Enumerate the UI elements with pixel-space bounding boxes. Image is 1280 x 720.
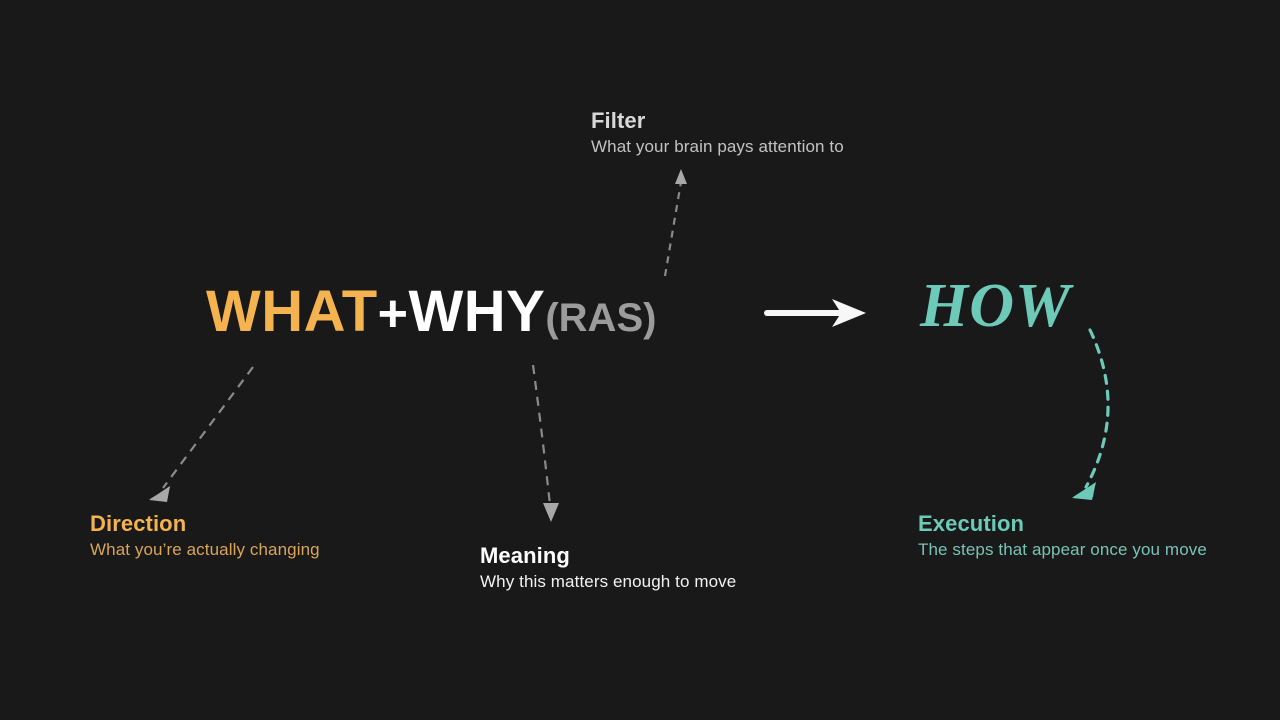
diagram-canvas: WHAT+WHY(RAS) HOW Filter What your brain…	[0, 0, 1280, 720]
note-direction: Direction What you’re actually changing	[90, 511, 320, 563]
note-execution-title: Execution	[918, 511, 1208, 536]
equation-ras: (RAS)	[545, 296, 656, 340]
note-filter: Filter What your brain pays attention to	[591, 108, 844, 160]
what-why-to-how-arrow	[767, 299, 866, 327]
note-meaning-title: Meaning	[480, 543, 736, 568]
note-execution-subtitle: The steps that appear once you move	[918, 536, 1208, 563]
note-meaning-subtitle: Why this matters enough to move	[480, 568, 736, 595]
note-direction-title: Direction	[90, 511, 320, 536]
note-filter-subtitle: What your brain pays attention to	[591, 133, 844, 160]
note-filter-title: Filter	[591, 108, 844, 133]
how-to-execution-arrow	[1072, 330, 1108, 500]
equation-plus: +	[378, 285, 409, 343]
note-direction-subtitle: What you’re actually changing	[90, 536, 320, 563]
central-equation: WHAT+WHY(RAS)	[206, 283, 656, 341]
why-to-meaning-arrow	[533, 365, 559, 522]
note-meaning: Meaning Why this matters enough to move	[480, 543, 736, 595]
why-to-filter-arrow	[665, 169, 687, 276]
what-to-direction-arrow	[149, 367, 253, 502]
equation-why: WHY	[409, 279, 546, 344]
result-how: HOW	[920, 275, 1071, 337]
equation-what: WHAT	[206, 279, 378, 344]
note-execution: Execution The steps that appear once you…	[918, 511, 1208, 563]
